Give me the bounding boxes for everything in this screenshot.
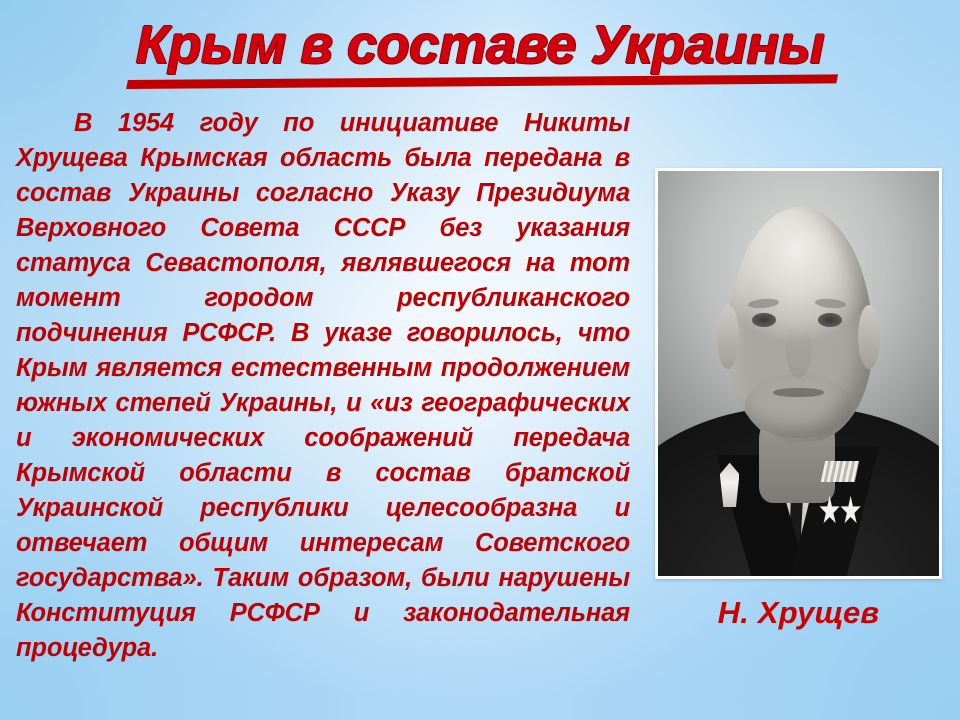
photo-hero-star-medals xyxy=(818,459,866,528)
photo-star-icon-second xyxy=(840,496,861,526)
body-paragraph: В 1954 году по инициативе Никиты Хрущева… xyxy=(16,106,630,666)
slide-canvas: Крым в составе Украины В 1954 году по ин… xyxy=(0,0,960,720)
page-title: Крым в составе Украины xyxy=(130,16,831,76)
photo-eye-right xyxy=(818,313,842,327)
photo-star-icon-first xyxy=(819,496,840,526)
photo-nose xyxy=(786,325,811,378)
photo-medal-ribbon xyxy=(821,461,860,482)
photo-jaw-shading xyxy=(745,374,852,439)
slide-title-container: Крым в составе Украины xyxy=(0,16,960,76)
portrait-caption: Н. Хрущев xyxy=(655,595,942,631)
portrait-photo-khrushchev xyxy=(658,171,939,576)
title-underline-rule xyxy=(126,74,838,89)
portrait-photo-frame xyxy=(655,168,942,579)
photo-eye-left xyxy=(752,313,776,327)
photo-ear-right xyxy=(858,305,880,370)
